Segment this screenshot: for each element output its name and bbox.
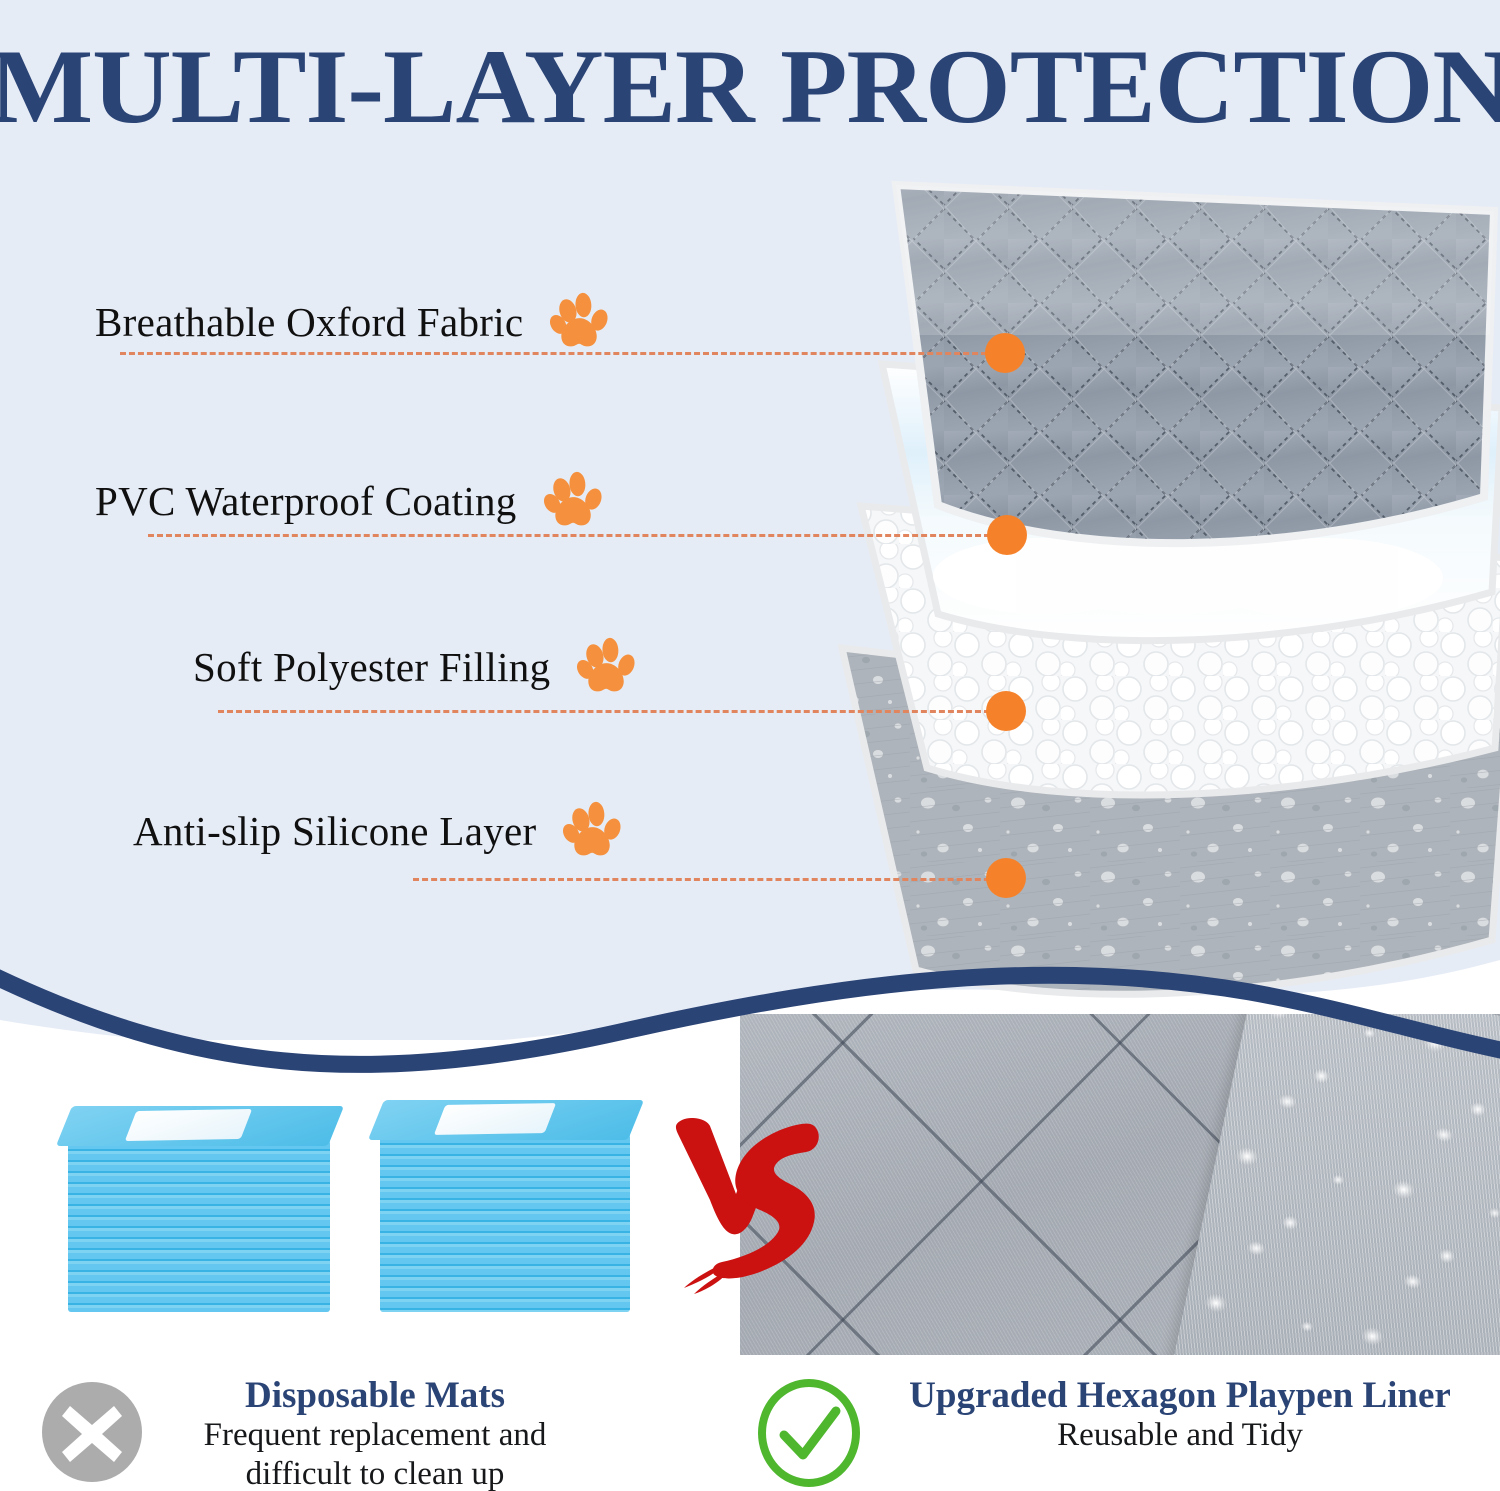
- disposable-mats-title: Disposable Mats: [160, 1375, 590, 1416]
- layer-label-text: Soft Polyester Filling: [193, 643, 550, 691]
- playpen-liner-title: Upgraded Hexagon Playpen Liner: [880, 1375, 1480, 1416]
- disposable-pad-stack: [380, 1126, 630, 1312]
- wave-divider: [0, 940, 1500, 1100]
- layer-label-pvc: PVC Waterproof Coating: [95, 462, 605, 540]
- multi-layer-section: MULTI-LAYER PROTECTION: [0, 0, 1500, 1060]
- playpen-liner-subtitle: Reusable and Tidy: [880, 1416, 1480, 1455]
- paw-icon: [576, 636, 638, 698]
- check-icon: [757, 1379, 861, 1487]
- disposable-mats-caption: Disposable Mats Frequent replacement and…: [160, 1375, 590, 1491]
- connector-dot-silicone: [986, 858, 1026, 898]
- connector-line-polyester: [218, 710, 1008, 713]
- pad-stack-white-strip: [125, 1109, 253, 1141]
- connector-dot-pvc: [987, 515, 1027, 555]
- paw-icon: [562, 800, 624, 862]
- connector-line-silicone: [413, 878, 1008, 881]
- layer-label-text: PVC Waterproof Coating: [95, 477, 517, 525]
- connector-dot-polyester: [986, 691, 1026, 731]
- layer-label-text: Anti-slip Silicone Layer: [133, 807, 536, 855]
- pad-stack-body: [68, 1132, 330, 1312]
- pad-stack-body: [380, 1126, 630, 1312]
- infographic-poster: MULTI-LAYER PROTECTION: [0, 0, 1500, 1491]
- disposable-pad-stack: [68, 1132, 330, 1312]
- layer-label-text: Breathable Oxford Fabric: [95, 298, 523, 346]
- layer-label-oxford: Breathable Oxford Fabric: [95, 283, 611, 361]
- cross-icon: [40, 1380, 144, 1484]
- disposable-mats-subtitle-line2: difficult to clean up: [160, 1455, 590, 1491]
- layer-label-polyester: Soft Polyester Filling: [193, 628, 638, 706]
- paw-icon: [549, 291, 611, 353]
- playpen-liner-caption: Upgraded Hexagon Playpen Liner Reusable …: [880, 1375, 1480, 1455]
- page-title: MULTI-LAYER PROTECTION: [0, 34, 1500, 140]
- pad-stack-white-strip: [434, 1103, 556, 1135]
- layer-sheet-oxford: [880, 175, 1500, 595]
- disposable-mats-subtitle-line1: Frequent replacement and: [160, 1416, 590, 1455]
- layer-label-silicone: Anti-slip Silicone Layer: [133, 792, 624, 870]
- paw-icon: [543, 470, 605, 532]
- versus-badge: [666, 1112, 846, 1297]
- connector-dot-oxford: [985, 333, 1025, 373]
